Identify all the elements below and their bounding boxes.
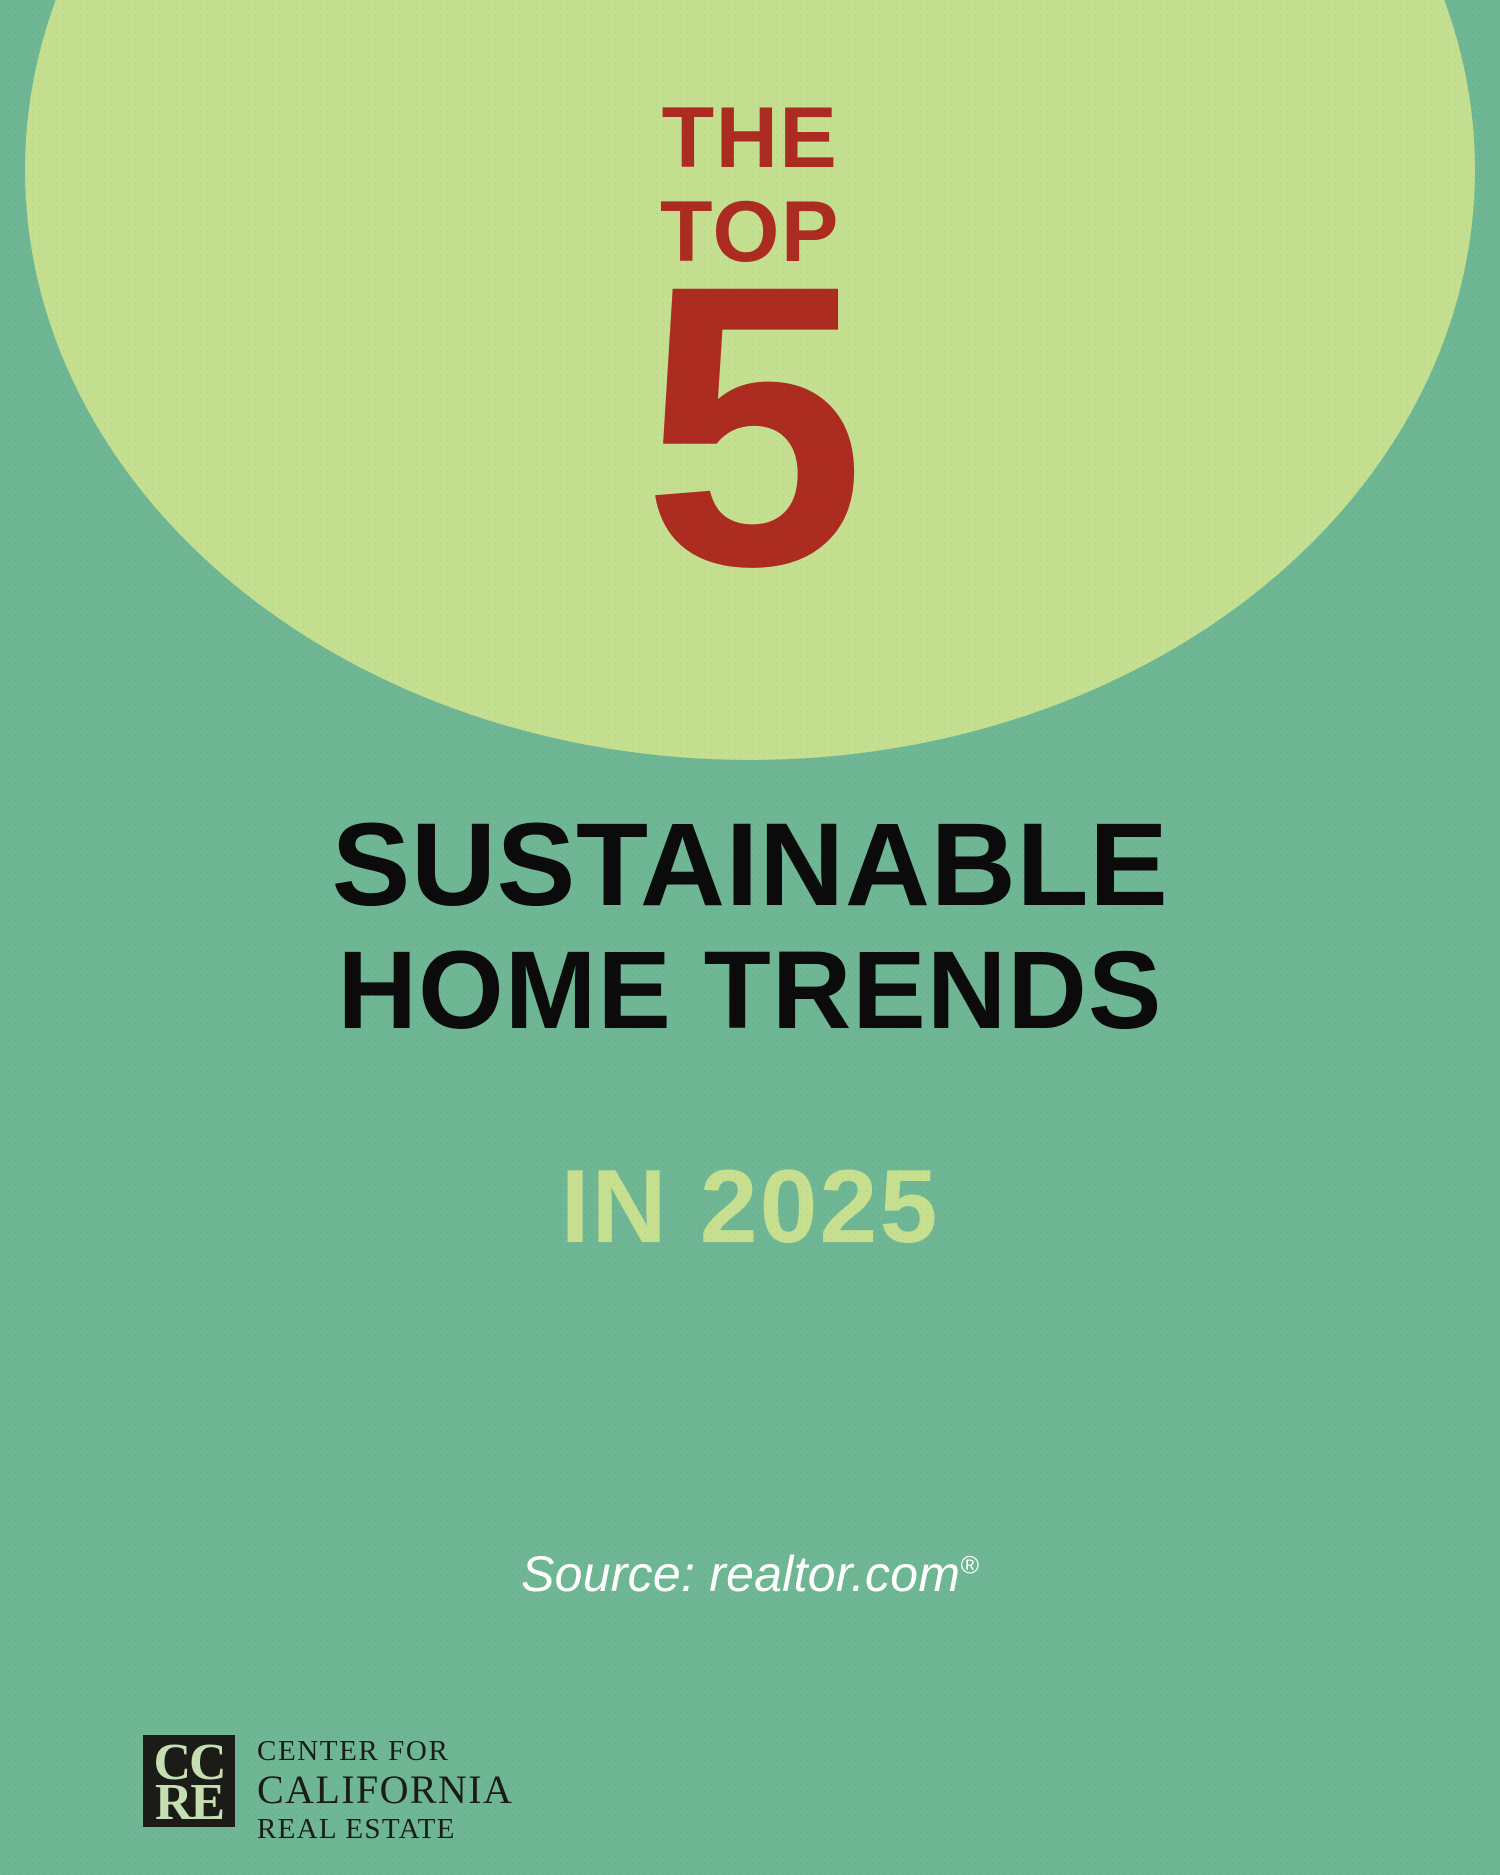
logo-line-real-estate: REAL ESTATE bbox=[257, 1815, 513, 1844]
poster-canvas: THE TOP 5 SUSTAINABLE HOME TRENDS IN 202… bbox=[0, 0, 1500, 1875]
kicker-line-the: THE bbox=[0, 96, 1500, 180]
monogram-bottom: RE bbox=[143, 1777, 235, 1829]
registered-trademark-icon: ® bbox=[960, 1551, 979, 1579]
headline-line-sustainable: SUSTAINABLE bbox=[0, 810, 1500, 921]
ccre-monogram-icon: CC RE bbox=[143, 1735, 235, 1827]
hero-number-five: 5 bbox=[0, 250, 1500, 602]
headline-line-home-trends: HOME TRENDS bbox=[0, 939, 1500, 1042]
page-title: SUSTAINABLE HOME TRENDS bbox=[0, 810, 1500, 1042]
logo-line-center-for: CENTER FOR bbox=[257, 1737, 513, 1766]
ccre-logo-wordmark: CENTER FOR CALIFORNIA REAL ESTATE bbox=[257, 1735, 513, 1844]
subheadline-year: IN 2025 bbox=[0, 1155, 1500, 1259]
logo-line-california: CALIFORNIA bbox=[257, 1770, 513, 1810]
source-attribution: Source: realtor.com® bbox=[0, 1545, 1500, 1603]
source-label: Source: realtor.com bbox=[521, 1546, 960, 1602]
ccre-logo: CC RE CENTER FOR CALIFORNIA REAL ESTATE bbox=[143, 1735, 513, 1844]
